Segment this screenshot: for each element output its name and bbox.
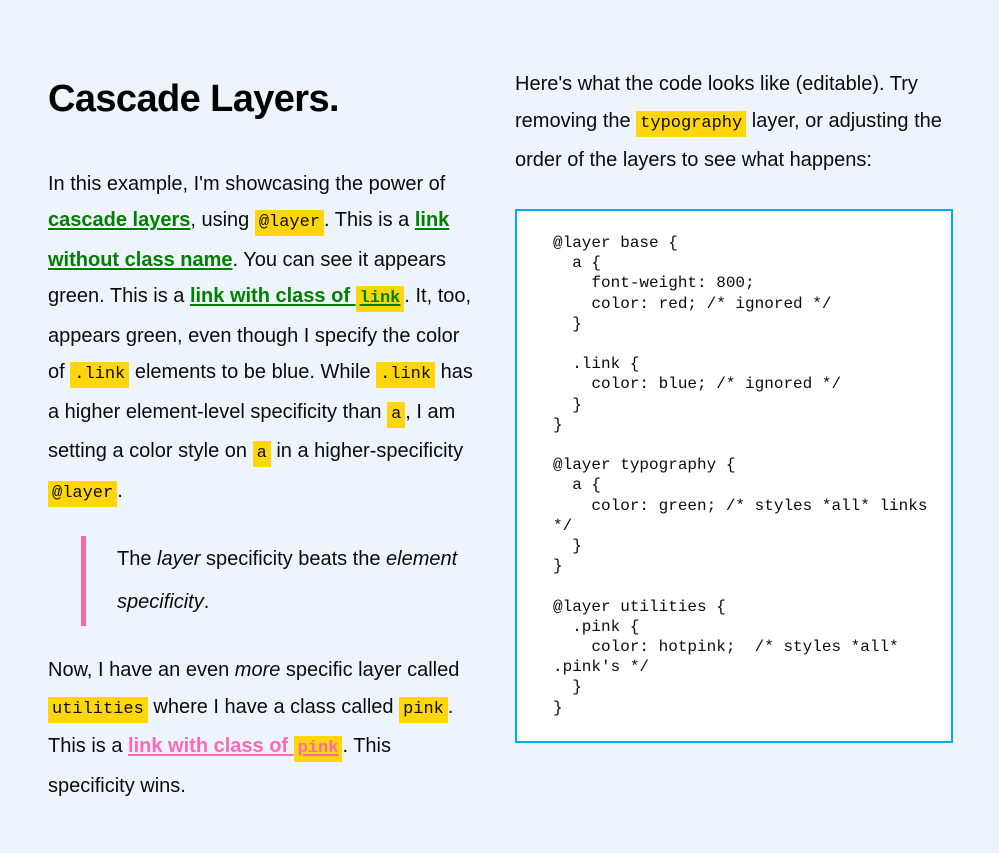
page-root: Cascade Layers. In this example, I'm sho… — [0, 0, 999, 853]
code-pink-class: pink — [399, 697, 448, 723]
code-dot-link-second: .link — [376, 362, 435, 388]
text-segment: In this example, I'm showcasing the powe… — [48, 173, 445, 195]
code-utilities: utilities — [48, 697, 148, 723]
blockquote-text: The layer specificity beats the element … — [117, 538, 480, 624]
code-selector-a-second: a — [253, 441, 271, 467]
text-segment: The — [117, 548, 157, 570]
text-segment: in a higher-specificity — [271, 440, 463, 462]
blockquote-layer-specificity: The layer specificity beats the element … — [81, 536, 480, 626]
link-label: link with class of — [190, 285, 356, 307]
link-with-class-of-pink[interactable]: link with class of pink — [128, 735, 342, 757]
emphasis-layer: layer — [157, 548, 200, 570]
code-dot-link-first: .link — [70, 362, 129, 388]
code-atlayer: @layer — [255, 210, 324, 236]
text-segment: specific layer called — [280, 659, 459, 681]
right-column: Here's what the code looks like (editabl… — [515, 66, 953, 743]
page-title: Cascade Layers. — [48, 78, 480, 122]
article-body: In this example, I'm showcasing the powe… — [48, 166, 480, 805]
text-segment: elements to be blue. While — [129, 361, 376, 383]
text-segment: Now, I have an even — [48, 659, 235, 681]
link-label: link with class of — [128, 735, 294, 757]
code-link-class: link — [356, 286, 405, 312]
code-panel-intro: Here's what the code looks like (editabl… — [515, 66, 953, 179]
code-editor-panel[interactable]: @layer base { a { font-weight: 800; colo… — [515, 209, 953, 743]
code-atlayer-second: @layer — [48, 481, 117, 507]
left-column: Cascade Layers. In this example, I'm sho… — [48, 78, 480, 804]
paragraph-intro: In this example, I'm showcasing the powe… — [48, 166, 480, 513]
text-segment: , using — [190, 209, 254, 231]
code-editor-content[interactable]: @layer base { a { font-weight: 800; colo… — [553, 233, 933, 718]
code-typography: typography — [636, 111, 746, 137]
emphasis-more: more — [235, 659, 281, 681]
text-segment: . This is a — [324, 209, 415, 231]
text-segment: . — [117, 480, 123, 502]
link-with-class-of-link[interactable]: link with class of link — [190, 285, 404, 307]
text-segment: where I have a class called — [148, 696, 399, 718]
paragraph-utilities: Now, I have an even more specific layer … — [48, 652, 480, 804]
code-pink-link: pink — [294, 736, 343, 762]
text-segment: specificity beats the — [200, 548, 386, 570]
link-label: cascade layers — [48, 209, 190, 231]
code-selector-a-first: a — [387, 402, 405, 428]
link-cascade-layers[interactable]: cascade layers — [48, 209, 190, 231]
text-segment: . — [204, 591, 210, 613]
